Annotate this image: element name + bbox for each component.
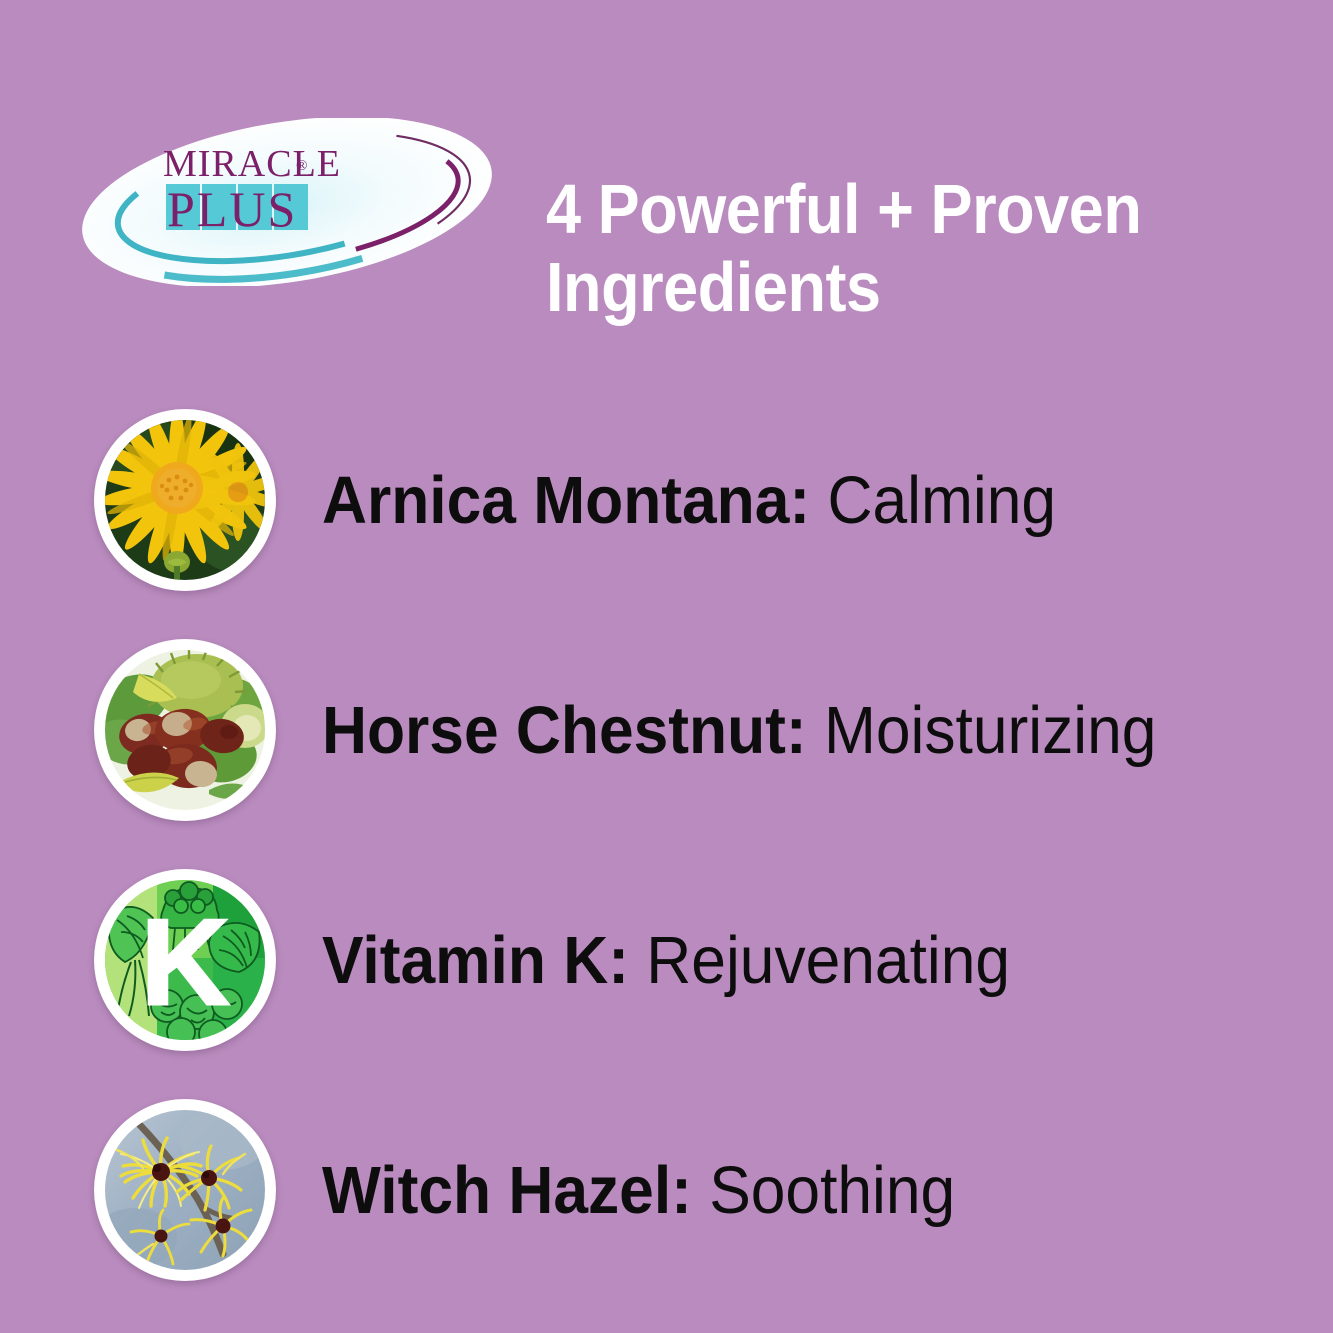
vitamin-k-letter: K — [141, 894, 229, 1030]
ingredient-row-vitamin-k: K Vitamin K: Rejuvenating — [0, 845, 1333, 1075]
logo-wordmark-miracle: MIRACLE — [163, 143, 341, 185]
witch-hazel-flower-icon — [105, 1110, 265, 1270]
ingredient-name: Horse Chestnut: — [322, 693, 807, 768]
horse-chestnut-icon — [105, 650, 265, 810]
ingredient-row-horse-chestnut: Horse Chestnut: Moisturizing — [0, 615, 1333, 845]
ingredient-label-vitamin-k: Vitamin K: Rejuvenating — [322, 927, 1010, 994]
ingredient-thumb-witch-hazel — [94, 1099, 276, 1281]
ingredient-list: Arnica Montana: Calming — [0, 385, 1333, 1305]
ingredient-thumb-horse-chestnut — [94, 639, 276, 821]
ingredient-row-arnica-montana: Arnica Montana: Calming — [0, 385, 1333, 615]
ingredient-label-horse-chestnut: Horse Chestnut: Moisturizing — [322, 697, 1156, 764]
page-title: 4 Powerful + Proven Ingredients — [546, 170, 1230, 327]
ingredient-label-witch-hazel: Witch Hazel: Soothing — [322, 1157, 955, 1224]
ingredient-benefit: Rejuvenating — [646, 923, 1010, 998]
miracle-plus-logo: MIRACLE ® PLUS — [78, 118, 496, 286]
ingredient-thumb-arnica-montana — [94, 409, 276, 591]
ingredient-thumb-vitamin-k: K — [94, 869, 276, 1051]
page-title-line-1: 4 Powerful + Proven — [546, 170, 1141, 248]
vitamin-k-vegetables-icon: K — [105, 880, 265, 1040]
ingredient-name: Witch Hazel: — [322, 1153, 692, 1228]
ingredient-row-witch-hazel: Witch Hazel: Soothing — [0, 1075, 1333, 1305]
ingredient-benefit: Soothing — [709, 1153, 955, 1228]
page-title-line-2: Ingredients — [546, 248, 881, 326]
header-section: MIRACLE ® PLUS 4 Powerful + Proven Ingre… — [0, 0, 1333, 330]
ingredient-label-arnica-montana: Arnica Montana: Calming — [322, 467, 1056, 534]
ingredient-name: Vitamin K: — [322, 923, 629, 998]
ingredient-benefit: Moisturizing — [824, 693, 1156, 768]
ingredient-benefit: Calming — [827, 463, 1056, 538]
ingredient-name: Arnica Montana: — [322, 463, 810, 538]
logo-wordmark-plus: PLUS — [167, 181, 297, 237]
logo-registered-icon: ® — [296, 158, 307, 174]
arnica-flower-icon — [105, 420, 265, 580]
